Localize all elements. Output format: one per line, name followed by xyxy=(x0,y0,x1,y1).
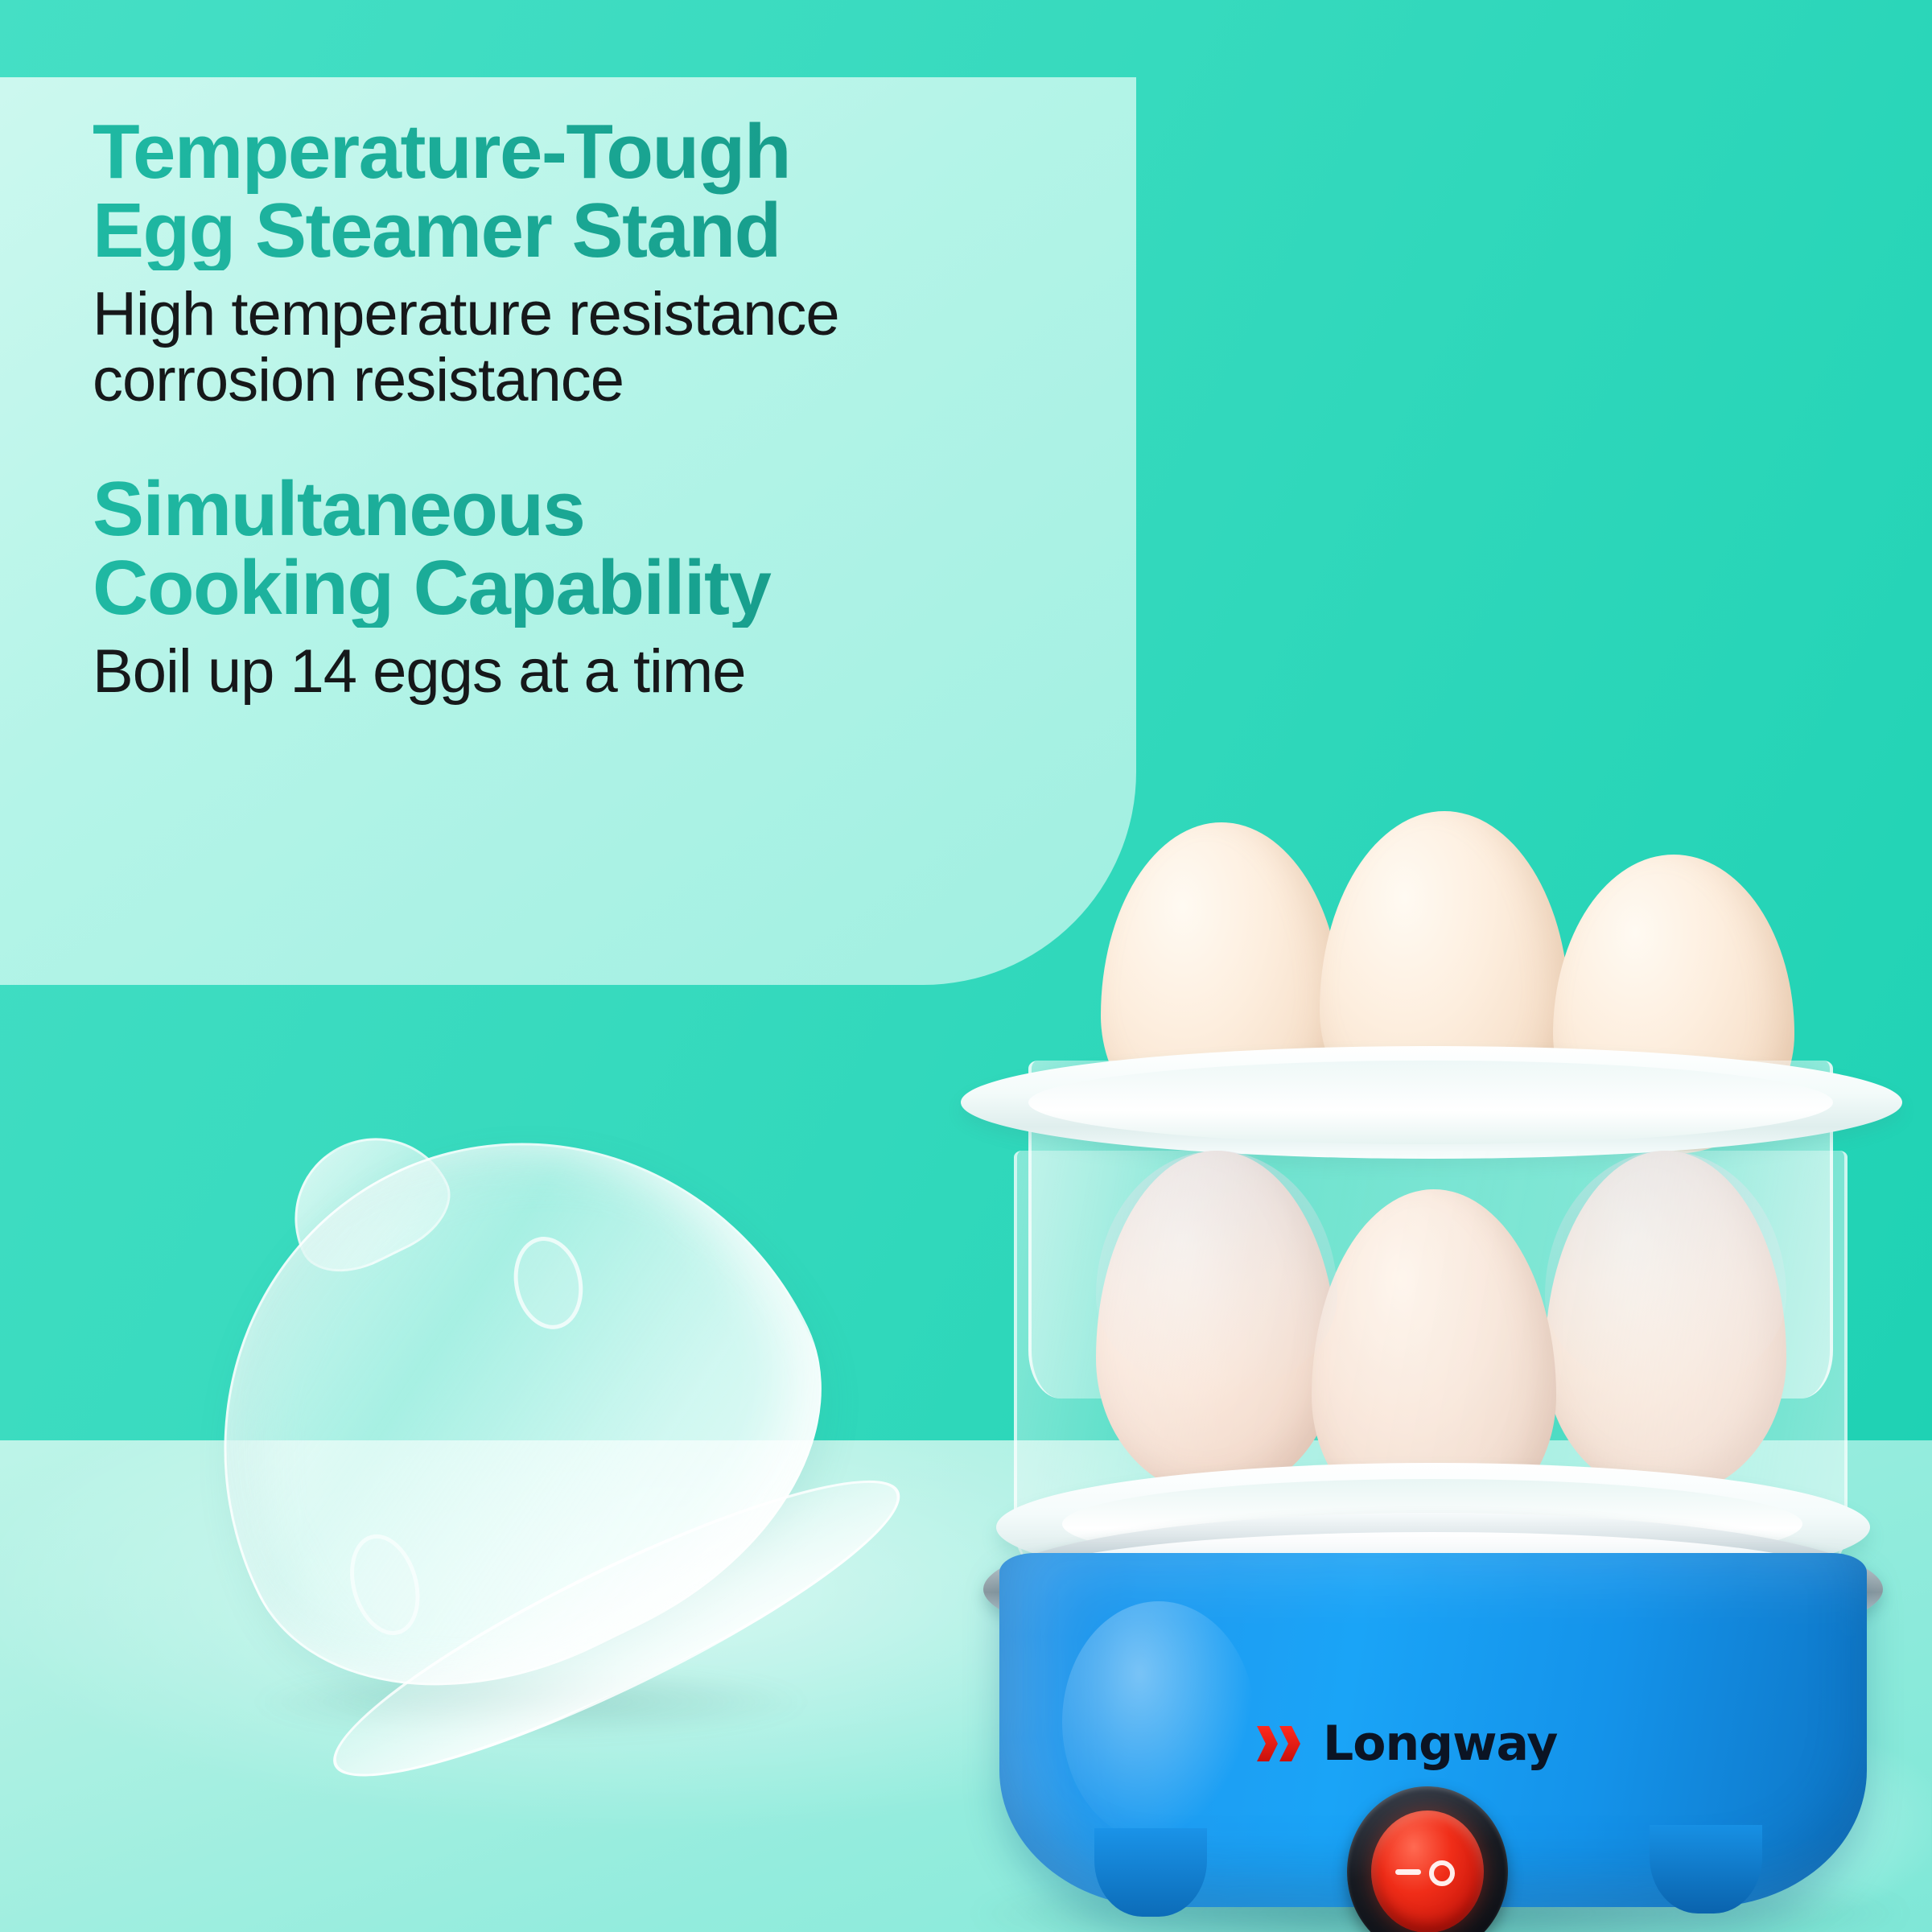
feature-2-subtitle: Boil up 14 eggs at a time xyxy=(93,639,1098,705)
feature-2-title: SimultaneousCooking Capability xyxy=(93,470,1098,628)
power-switch-rocker[interactable] xyxy=(1371,1810,1484,1932)
feature-1-title: Temperature-ToughEgg Steamer Stand xyxy=(93,113,1098,270)
feature-1-subtitle: High temperature resistancecorrosion res… xyxy=(93,282,1098,414)
product-image: Longway xyxy=(925,805,1932,1932)
upper-tray-inner xyxy=(1028,1061,1833,1144)
brand-logo: Longway xyxy=(1257,1712,1603,1776)
base-highlight xyxy=(1062,1601,1255,1843)
promo-banner: Temperature-ToughEgg Steamer Stand High … xyxy=(0,0,1932,1932)
brand-name: Longway xyxy=(1323,1716,1557,1772)
double-chevron-icon xyxy=(1257,1723,1310,1765)
power-io-icon xyxy=(1394,1856,1461,1888)
copy-spacer xyxy=(93,414,1098,470)
copy-block: Temperature-ToughEgg Steamer Stand High … xyxy=(93,113,1098,705)
